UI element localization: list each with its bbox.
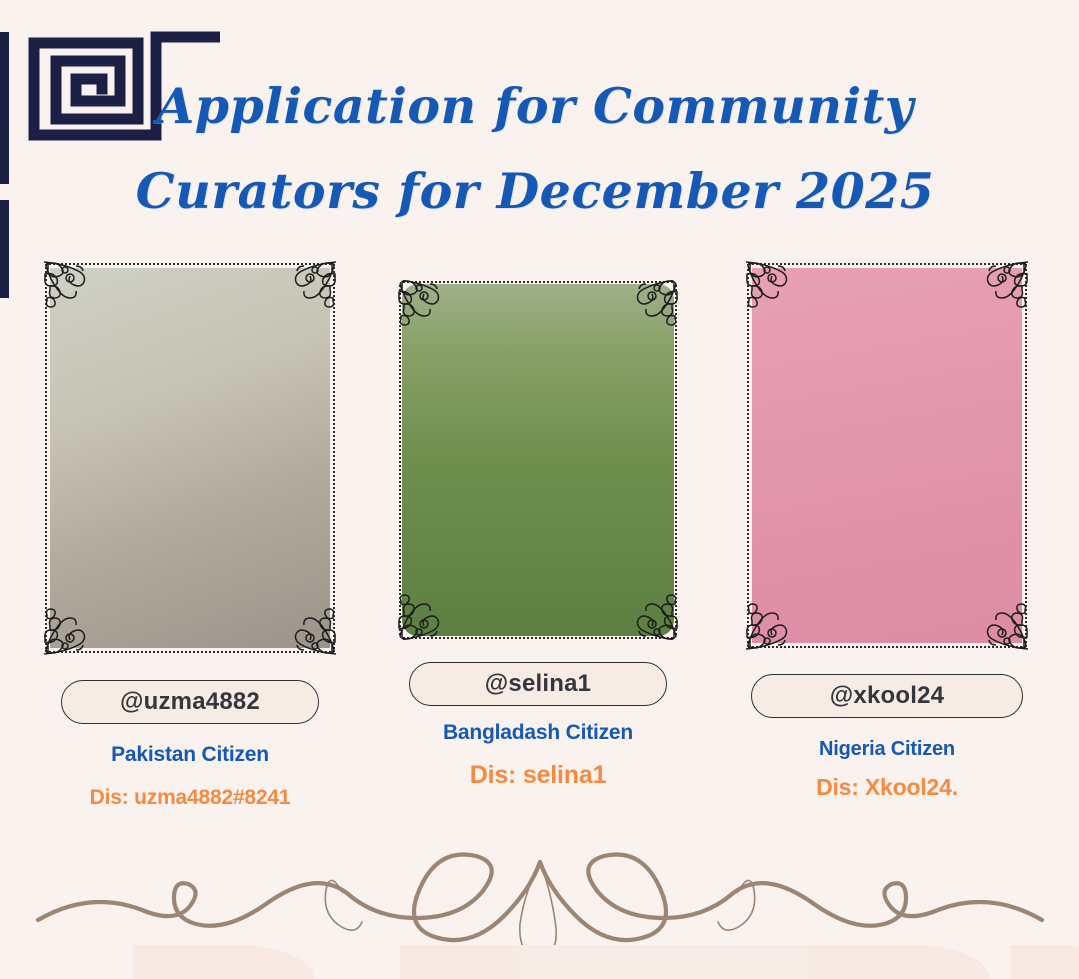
- photo-frame: [40, 258, 340, 658]
- calligraphic-swirl-divider-icon: [30, 832, 1050, 952]
- photo-background: [752, 268, 1022, 643]
- frame-dotted-top: [400, 281, 676, 283]
- frame-dotted-left: [45, 264, 47, 652]
- username-badge[interactable]: @xkool24: [751, 674, 1023, 718]
- photo-frame: [742, 258, 1032, 653]
- photo-frame: [394, 276, 682, 644]
- poster-canvas: Application for Community Curators for D…: [0, 0, 1079, 979]
- citizenship-label: Nigeria Citizen: [727, 738, 1047, 761]
- discord-handle: Dis: uzma4882#8241: [30, 786, 350, 810]
- frame-dotted-top: [748, 263, 1026, 265]
- curator-card[interactable]: @uzma4882 Pakistan Citizen Dis: uzma4882…: [30, 258, 350, 810]
- curator-card[interactable]: @selina1 Bangladash Citizen Dis: selina1: [378, 258, 698, 790]
- title-line-1: Application for Community: [120, 82, 950, 131]
- frame-dotted-top: [46, 263, 334, 265]
- frame-dotted-bottom: [46, 651, 334, 653]
- title-line-2: Curators for December 2025: [120, 167, 950, 216]
- frame-dotted-bottom: [748, 646, 1026, 648]
- photo-background: [50, 268, 330, 648]
- discord-handle: Dis: Xkool24.: [727, 774, 1047, 801]
- frame-dotted-right: [1025, 264, 1027, 647]
- frame-dotted-bottom: [400, 637, 676, 639]
- discord-handle: Dis: selina1: [378, 761, 698, 790]
- frame-dotted-left: [399, 282, 401, 638]
- frame-dotted-left: [747, 264, 749, 647]
- next-row-card-peek: [1010, 945, 1079, 979]
- frame-dotted-right: [333, 264, 335, 652]
- citizenship-label: Bangladash Citizen: [378, 721, 698, 745]
- frame-dotted-right: [675, 282, 677, 638]
- poster-title: Application for Community Curators for D…: [120, 82, 950, 216]
- citizenship-label: Pakistan Citizen: [30, 743, 350, 767]
- curator-photo: [402, 284, 674, 636]
- logo-left-bar-upper: [0, 32, 9, 184]
- username-badge[interactable]: @uzma4882: [61, 680, 319, 724]
- curator-card-row: @uzma4882 Pakistan Citizen Dis: uzma4882…: [0, 258, 1079, 818]
- photo-background: [402, 284, 674, 636]
- curator-photo: [752, 268, 1022, 643]
- curator-card[interactable]: @xkool24 Nigeria Citizen Dis: Xkool24.: [727, 258, 1047, 801]
- username-badge[interactable]: @selina1: [409, 662, 667, 706]
- curator-photo: [50, 268, 330, 648]
